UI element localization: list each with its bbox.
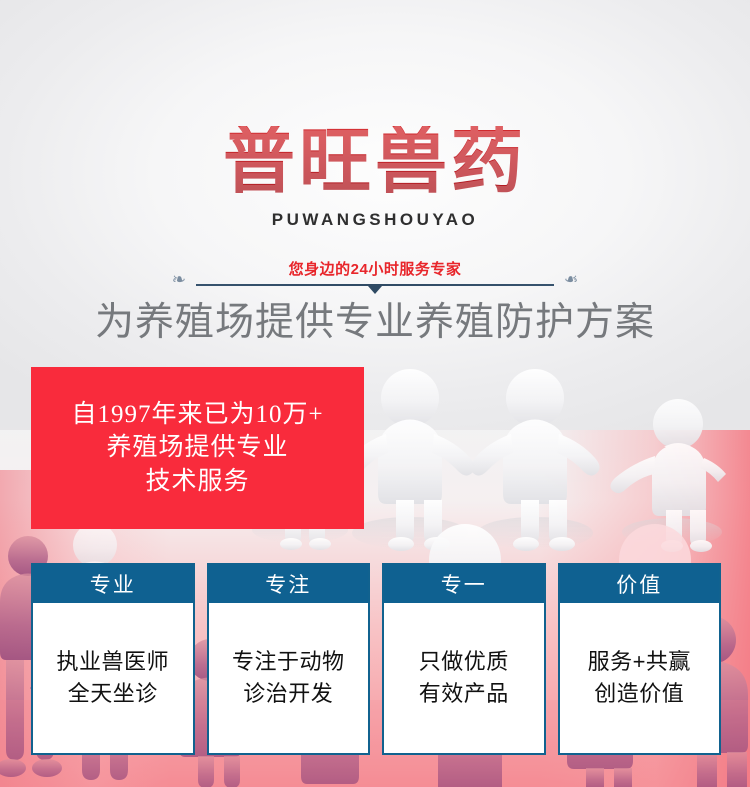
feature-card-1-line2: 全天坐诊 (68, 678, 158, 710)
callout-line-3: 技术服务 (145, 465, 249, 498)
feature-card-1-line1: 执业兽医师 (56, 646, 169, 678)
feature-card-4-header: 价值 (560, 565, 720, 603)
page-headline: 为养殖场提供专业养殖防护方案 (0, 300, 750, 347)
callout-line-2: 养殖场提供专业 (106, 431, 288, 464)
feature-card-1-header: 专业 (33, 565, 193, 603)
red-callout-box: 自1997年来已为10万+ 养殖场提供专业 技术服务 (31, 367, 364, 529)
feature-card-2[interactable]: 专注 专注于动物 诊治开发 (207, 563, 371, 755)
feature-card-2-header: 专注 (209, 565, 369, 603)
feature-card-1-body: 执业兽医师 全天坐诊 (33, 603, 193, 753)
feature-card-2-body: 专注于动物 诊治开发 (209, 603, 369, 753)
feature-card-2-line2: 诊治开发 (243, 678, 333, 710)
tagline-text: 您身边的24小时服务专家 (196, 258, 554, 284)
feature-card-4-line2: 创造价值 (594, 678, 684, 710)
feature-cards: 专业 执业兽医师 全天坐诊 专注 专注于动物 诊治开发 专一 只做优质 有效产品… (31, 563, 721, 755)
promo-poster: 普旺兽药 PUWANGSHOUYAO ❧ 您身边的24小时服务专家 ❧ 为养殖场… (0, 0, 750, 787)
feature-card-3-body: 只做优质 有效产品 (384, 603, 544, 753)
feature-card-3[interactable]: 专一 只做优质 有效产品 (382, 563, 546, 755)
tagline-caret-icon (368, 286, 382, 294)
feature-card-4-body: 服务+共赢 创造价值 (560, 603, 720, 753)
feature-card-3-line2: 有效产品 (419, 678, 509, 710)
tagline-row: ❧ 您身边的24小时服务专家 ❧ (0, 258, 750, 286)
flourish-left-icon: ❧ (172, 271, 186, 288)
feature-card-4-line1: 服务+共赢 (588, 646, 691, 678)
poster-header: 普旺兽药 PUWANGSHOUYAO (0, 0, 750, 230)
feature-card-2-line1: 专注于动物 (232, 646, 345, 678)
feature-card-1[interactable]: 专业 执业兽医师 全天坐诊 (31, 563, 195, 755)
tagline-center: 您身边的24小时服务专家 (196, 258, 554, 286)
feature-card-4[interactable]: 价值 服务+共赢 创造价值 (558, 563, 722, 755)
brand-title: 普旺兽药 (0, 126, 750, 198)
brand-pinyin: PUWANGSHOUYAO (0, 210, 750, 230)
flourish-right-icon: ❧ (564, 271, 578, 288)
callout-line-1: 自1997年来已为10万+ (71, 398, 323, 431)
feature-card-3-header: 专一 (384, 565, 544, 603)
feature-card-3-line1: 只做优质 (419, 646, 509, 678)
